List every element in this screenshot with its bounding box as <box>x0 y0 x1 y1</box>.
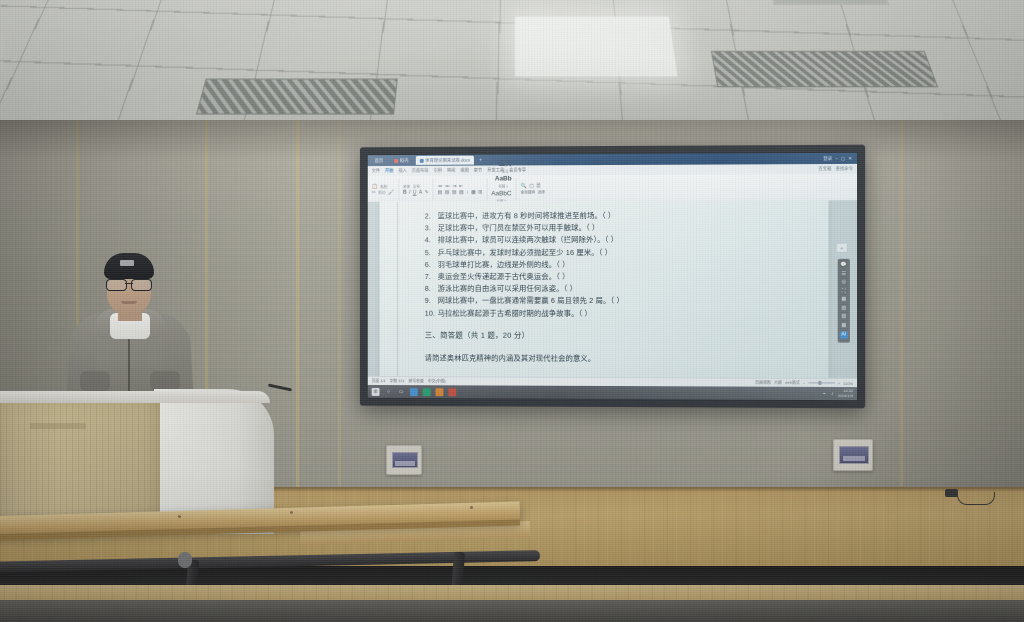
beanie-logo <box>120 260 134 266</box>
question-text: 奥运会圣火传递起源于古代奥运会。（ ） <box>438 272 570 281</box>
question-text: 篮球比赛中，进攻方有 8 秒时间将球推进至前场。（ ） <box>438 211 616 220</box>
question-number: 4. <box>425 235 436 247</box>
system-tray: ⌁ ♪ 14:32 2024/1/9 <box>822 389 853 398</box>
question-text: 马拉松比赛起源于古希腊时期的战争故事。（ ） <box>438 308 592 317</box>
justify-icon[interactable]: ▤ <box>459 190 464 195</box>
question-item: 4. 排球比赛中，球员可以连续两次触球（拦网除外）。（ ） <box>425 234 811 247</box>
lectern-name-plate <box>30 423 86 429</box>
style-caption: 正文 <box>502 168 509 173</box>
ribbon-group-font: 宋体 五号 B I U A ✎ <box>403 179 434 201</box>
page-info: 页面 1/1 <box>372 378 386 384</box>
essay-prompt: 请简述奥林匹克精神的内涵及其对现代社会的意义。 <box>425 352 811 364</box>
ribbon-group-editing: 🔍 ▢ 🗎 查找替换 选择 <box>521 178 549 200</box>
font-family-value[interactable]: 宋体 <box>403 184 410 189</box>
question-item: 9. 网球比赛中，一盘比赛通常需要赢 6 局且领先 2 局。（ ） <box>425 295 811 308</box>
question-text: 乒乓球比赛中，发球时球必须抛起至少 16 厘米。（ ） <box>438 248 613 257</box>
browser-icon[interactable] <box>423 388 431 396</box>
bullet-list-icon[interactable]: ≔ <box>438 184 443 189</box>
page-margin-guide <box>397 202 398 385</box>
panel-item-screenshot[interactable]: ⛶ <box>842 289 846 294</box>
new-tab-button[interactable]: + <box>479 157 482 163</box>
panel-item-assistant[interactable]: ◎ <box>842 280 846 285</box>
panel-item-skin[interactable]: ▩ <box>841 323 846 328</box>
window-controls: 登录 − ▢ ✕ <box>823 155 854 161</box>
desk-screw <box>178 515 181 518</box>
document-page[interactable]: 2. 篮球比赛中，进攻方有 8 秒时间将球推进至前场。（ ） 3. 足球比赛中，… <box>380 200 829 387</box>
ribbon-controls: 📋 粘贴 ✂ 剪切 🖌 宋体 五号 <box>368 174 857 204</box>
wechat-icon[interactable] <box>435 388 443 396</box>
status-right: 页面视图 大纲 web版式 − + 110% <box>755 380 853 386</box>
word-doc-icon <box>419 158 423 162</box>
style-caption: 标题 1 <box>498 183 508 188</box>
question-number: 2. <box>425 210 436 222</box>
question-number: 6. <box>425 259 436 271</box>
view-outline[interactable]: 大纲 <box>774 380 782 386</box>
question-item: 5. 乒乓球比赛中，发球时球必须抛起至少 16 厘米。（ ） <box>425 246 811 259</box>
bold-button[interactable]: B <box>403 190 407 195</box>
lecture-hall-photo: 首页 稻壳 体育理论期末试卷.docx + 登录 − ▢ ✕ <box>0 0 1024 622</box>
ribbon-tab-file[interactable]: 文件 <box>372 168 380 174</box>
question-item: 10. 马拉松比赛起源于古希腊时期的战争故事。（ ） <box>425 307 811 320</box>
ribbon-tab-home[interactable]: 开始 <box>385 168 393 174</box>
zoom-out-button[interactable]: − <box>803 380 805 385</box>
align-right-icon[interactable]: ▤ <box>452 190 457 195</box>
spellcheck-status[interactable]: 拼写检查 <box>409 378 424 384</box>
panel-item-chart[interactable]: ▥ <box>841 306 846 311</box>
find-replace-label[interactable]: 查找替换 <box>521 190 536 195</box>
outdent-icon[interactable]: ⇤ <box>459 184 463 189</box>
align-left-icon[interactable]: ▤ <box>438 190 443 195</box>
question-text: 游泳比赛的自由泳可以采用任何泳姿。（ ） <box>438 284 577 293</box>
panel-item-table[interactable]: ▦ <box>841 297 846 302</box>
floor-cable <box>957 492 995 505</box>
desk-screw <box>470 506 473 509</box>
ribbon-tab-review[interactable]: 审阅 <box>447 168 455 174</box>
style-preview: AaBbC <box>491 191 511 198</box>
select-label[interactable]: 选择 <box>538 190 545 195</box>
network-icon[interactable]: ⌁ <box>822 391 827 396</box>
panel-item-ai[interactable]: AI <box>839 331 848 338</box>
question-number: 7. <box>425 271 436 283</box>
windows-taskbar: ⊞ ○ ▭ ⌁ ♪ 14:32 2024/1/9 <box>368 385 857 400</box>
ribbon-toolbox[interactable]: 百宝箱 <box>818 166 831 172</box>
view-web-layout[interactable]: web版式 <box>785 380 800 386</box>
numbered-list-icon[interactable]: ≕ <box>445 184 450 189</box>
ribbon-tab-view[interactable]: 视图 <box>460 168 468 174</box>
wps-tab-label: 稻壳 <box>400 157 409 163</box>
word-count: 字数 221 <box>390 378 405 384</box>
section-heading: 三、简答题（共 1 题，20 分） <box>425 329 811 341</box>
select-icon[interactable]: ▢ <box>529 184 534 189</box>
style-normal[interactable]: 正文 正文 <box>499 161 512 173</box>
question-item: 2. 篮球比赛中，进攻方有 8 秒时间将球推进至前场。（ ） <box>425 209 811 222</box>
volume-icon[interactable]: ♪ <box>830 391 835 396</box>
borders-icon[interactable]: ⊞ <box>478 190 482 195</box>
ribbon-tab-layout[interactable]: 页面布局 <box>412 168 429 174</box>
question-number: 9. <box>425 295 436 307</box>
font-size-value[interactable]: 五号 <box>413 184 420 189</box>
zoom-in-button[interactable]: + <box>838 380 840 385</box>
question-text: 羽毛球单打比赛，边线是外侧的线。（ ） <box>438 260 570 269</box>
ribbon-group-styles: 正文 正文 AaBb 标题 1 AaBbC 标题 2 AaBbC <box>491 178 516 200</box>
minimize-icon[interactable]: − <box>835 156 838 161</box>
ribbon-tab-reference[interactable]: 引用 <box>433 168 441 174</box>
close-icon[interactable]: ✕ <box>848 155 852 161</box>
panel-item-comments[interactable]: 💬 <box>841 263 847 268</box>
wps-doc-icon <box>394 159 398 163</box>
align-center-icon[interactable]: ▤ <box>445 190 450 195</box>
wall-seam <box>338 120 341 500</box>
indent-icon[interactable]: ⇥ <box>452 184 456 189</box>
cut-label[interactable]: 剪切 <box>378 190 385 195</box>
cut-icon[interactable]: ✂ <box>372 190 376 195</box>
shading-icon[interactable]: ▦ <box>471 190 476 195</box>
wall-display[interactable]: 首页 稻壳 体育理论期末试卷.docx + 登录 − ▢ ✕ <box>360 145 865 409</box>
eyeglasses <box>105 279 153 289</box>
style-preview: 正文 <box>499 161 512 168</box>
hoodie-pocket-right <box>150 371 180 391</box>
desk-rail-cap <box>178 552 192 568</box>
question-text: 网球比赛中，一盘比赛通常需要赢 6 局且领先 2 局。（ ） <box>438 296 624 305</box>
underline-button[interactable]: U <box>413 190 417 195</box>
question-text: 足球比赛中，守门员在禁区外可以用手触球。（ ） <box>438 223 600 232</box>
wps-home-tab[interactable]: 首页 <box>371 156 387 165</box>
desk-screw <box>290 511 293 514</box>
ribbon-tab-insert[interactable]: 插入 <box>398 168 406 174</box>
wps-tab-docer[interactable]: 稻壳 <box>390 156 412 165</box>
document-body: 2. 篮球比赛中，进攻方有 8 秒时间将球推进至前场。（ ） 3. 足球比赛中，… <box>425 209 811 364</box>
display-screen[interactable]: 首页 稻壳 体育理论期末试卷.docx + 登录 − ▢ ✕ <box>368 153 857 400</box>
wall-outlet-left <box>386 445 422 475</box>
question-item: 6. 羽毛球单打比赛，边线是外侧的线。（ ） <box>425 259 811 271</box>
view-page-layout[interactable]: 页面视图 <box>755 380 771 386</box>
beanie-hat <box>104 253 154 279</box>
paste-label[interactable]: 粘贴 <box>380 184 387 189</box>
lens-left <box>106 279 127 291</box>
zoom-level[interactable]: 110% <box>843 380 853 385</box>
wps-tab-label: 体育理论期末试卷.docx <box>425 157 470 163</box>
question-number: 5. <box>425 247 436 259</box>
panel-item-docer[interactable]: ▧ <box>841 314 846 319</box>
wall-outlet-right <box>833 439 873 471</box>
question-item: 7. 奥运会圣火传递起源于古代奥运会。（ ） <box>425 271 811 283</box>
italic-button[interactable]: I <box>409 190 410 195</box>
ribbon-right-tabs: 百宝箱 查找命令 <box>818 166 853 172</box>
question-item: 3. 足球比赛中，守门员在禁区外可以用手触球。（ ） <box>425 222 811 235</box>
right-side-panel[interactable]: 💬 ☰ ◎ ⛶ ▦ ▥ ▧ ▩ AI <box>838 259 850 343</box>
document-canvas[interactable]: 2. 篮球比赛中，进攻方有 8 秒时间将球推进至前场。（ ） 3. 足球比赛中，… <box>368 200 857 387</box>
ribbon-tab-section[interactable]: 章节 <box>474 168 482 174</box>
question-text: 排球比赛中，球员可以连续两次触球（拦网除外）。（ ） <box>438 235 619 244</box>
start-button-icon[interactable]: ⊞ <box>372 387 380 395</box>
lectern-top <box>0 391 270 403</box>
wps-home-label: 首页 <box>375 158 384 164</box>
mouth <box>121 301 137 304</box>
file-explorer-icon[interactable] <box>410 388 418 396</box>
panel-item-toc[interactable]: ☰ <box>842 271 847 276</box>
clock[interactable]: 14:32 2024/1/9 <box>838 389 853 397</box>
question-item: 8. 游泳比赛的自由泳可以采用任何泳姿。（ ） <box>425 283 811 295</box>
line-spacing-icon[interactable]: ↕ <box>466 190 468 195</box>
lens-right <box>131 279 152 291</box>
format-painter-icon[interactable]: 🖌 <box>388 190 394 195</box>
wps-ribbon: 文件 开始 插入 页面布局 引用 审阅 视图 章节 开发工具 会员专享 百宝箱 … <box>368 164 857 205</box>
question-number: 8. <box>425 283 436 295</box>
wps-tab-document[interactable]: 体育理论期末试卷.docx <box>415 156 474 165</box>
side-panel-toggle[interactable]: « <box>836 243 848 253</box>
question-number: 3. <box>425 223 436 235</box>
glasses-bridge <box>125 283 133 284</box>
wps-taskbar-icon[interactable] <box>448 388 456 396</box>
ribbon-find-command[interactable]: 查找命令 <box>835 166 852 172</box>
zoom-slider[interactable] <box>808 382 834 384</box>
find-replace-icon[interactable]: 🔍 <box>521 184 527 189</box>
question-number: 10. <box>425 307 436 319</box>
wall-outlet-face <box>392 452 418 469</box>
text-tools-icon[interactable]: 🗎 <box>536 184 540 189</box>
wall-outlet-face <box>839 446 868 464</box>
task-view-icon[interactable]: ▭ <box>397 388 405 396</box>
style-heading-1[interactable]: AaBb 标题 1 <box>495 176 512 188</box>
paste-icon[interactable]: 📋 <box>372 184 378 189</box>
clock-date: 2024/1/9 <box>838 394 853 398</box>
ribbon-group-paragraph: ≔ ≕ ⇥ ⇤ ▤ ▤ ▤ ▤ ↕ ▦ ⊞ <box>438 178 488 200</box>
search-icon[interactable]: ○ <box>384 387 392 395</box>
style-preview: AaBb <box>495 176 512 183</box>
hoodie-pocket-left <box>80 371 110 391</box>
highlight-icon[interactable]: ✎ <box>425 190 429 195</box>
ribbon-group-clipboard: 📋 粘贴 ✂ 剪切 🖌 <box>372 179 399 201</box>
account-label[interactable]: 登录 <box>823 155 832 161</box>
foreground-desk-front <box>0 600 1024 622</box>
language-status[interactable]: 中文(中国) <box>428 378 446 384</box>
font-color-button[interactable]: A <box>419 190 422 195</box>
maximize-icon[interactable]: ▢ <box>841 155 845 161</box>
